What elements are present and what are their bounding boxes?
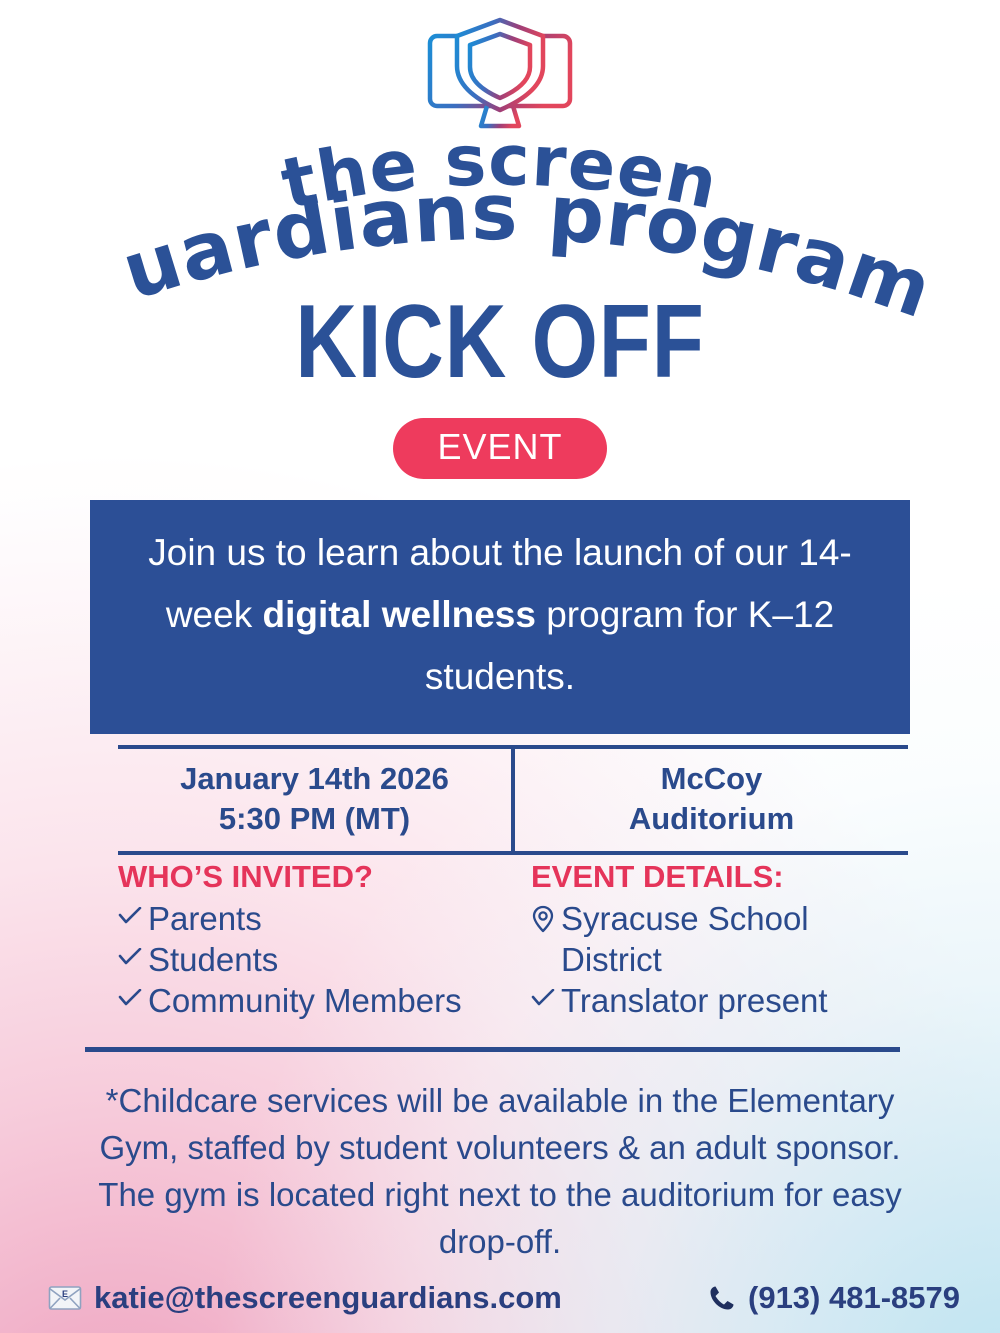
- check-icon: [118, 939, 144, 966]
- footer-contact: E katie@thescreenguardians.com (913) 481…: [48, 1281, 960, 1315]
- info-columns: WHO’S INVITED? Parents Students: [118, 858, 918, 1021]
- intro-banner: Join us to learn about the launch of our…: [90, 500, 910, 734]
- kickoff-headline: KICK OFF: [90, 292, 910, 392]
- contact-phone[interactable]: (913) 481-8579: [708, 1281, 960, 1315]
- event-badge-wrap: EVENT: [0, 418, 1000, 479]
- venue-room: Auditorium: [519, 799, 904, 839]
- venue-cell: McCoy Auditorium: [515, 749, 908, 851]
- monitor-shield-icon: [415, 14, 585, 134]
- status-badge: EVENT: [393, 418, 606, 479]
- list-item: Translator present: [531, 980, 918, 1021]
- poster-canvas: the screen guardians program KICK OFF EV…: [0, 0, 1000, 1333]
- contact-phone-label: (913) 481-8579: [748, 1281, 960, 1315]
- event-date: January 14th 2026: [122, 759, 507, 799]
- date-venue-row: January 14th 2026 5:30 PM (MT) McCoy Aud…: [118, 745, 908, 855]
- check-icon: [118, 980, 144, 1007]
- event-time: 5:30 PM (MT): [122, 799, 507, 839]
- logo: [0, 14, 1000, 134]
- phone-icon: [708, 1284, 736, 1312]
- check-icon: [531, 980, 557, 1007]
- location-pin-icon: [531, 898, 557, 933]
- envelope-icon: E: [48, 1285, 82, 1311]
- event-details-heading: EVENT DETAILS:: [531, 858, 918, 896]
- who-is-invited-column: WHO’S INVITED? Parents Students: [118, 858, 505, 1021]
- svg-text:E: E: [62, 1289, 68, 1299]
- who-invited-heading: WHO’S INVITED?: [118, 858, 505, 896]
- date-time-cell: January 14th 2026 5:30 PM (MT): [118, 749, 515, 851]
- venue-name: McCoy: [519, 759, 904, 799]
- list-item: Parents: [118, 898, 505, 939]
- check-icon: [118, 898, 144, 925]
- list-item-label: Translator present: [561, 980, 918, 1021]
- list-item: Students: [118, 939, 505, 980]
- list-item-label: Parents: [148, 898, 505, 939]
- list-item-label: Syracuse School District: [561, 898, 918, 980]
- contact-email[interactable]: E katie@thescreenguardians.com: [48, 1281, 562, 1315]
- section-divider: [85, 1047, 900, 1052]
- list-item-label: Community Members: [148, 980, 505, 1021]
- list-item: Community Members: [118, 980, 505, 1021]
- list-item-label: Students: [148, 939, 505, 980]
- contact-email-label: katie@thescreenguardians.com: [94, 1281, 562, 1315]
- childcare-note: *Childcare services will be available in…: [70, 1077, 930, 1265]
- event-details-column: EVENT DETAILS: Syracuse School District: [531, 858, 918, 1021]
- list-item: Syracuse School District: [531, 898, 918, 980]
- banner-text-highlight: digital wellness: [262, 594, 535, 635]
